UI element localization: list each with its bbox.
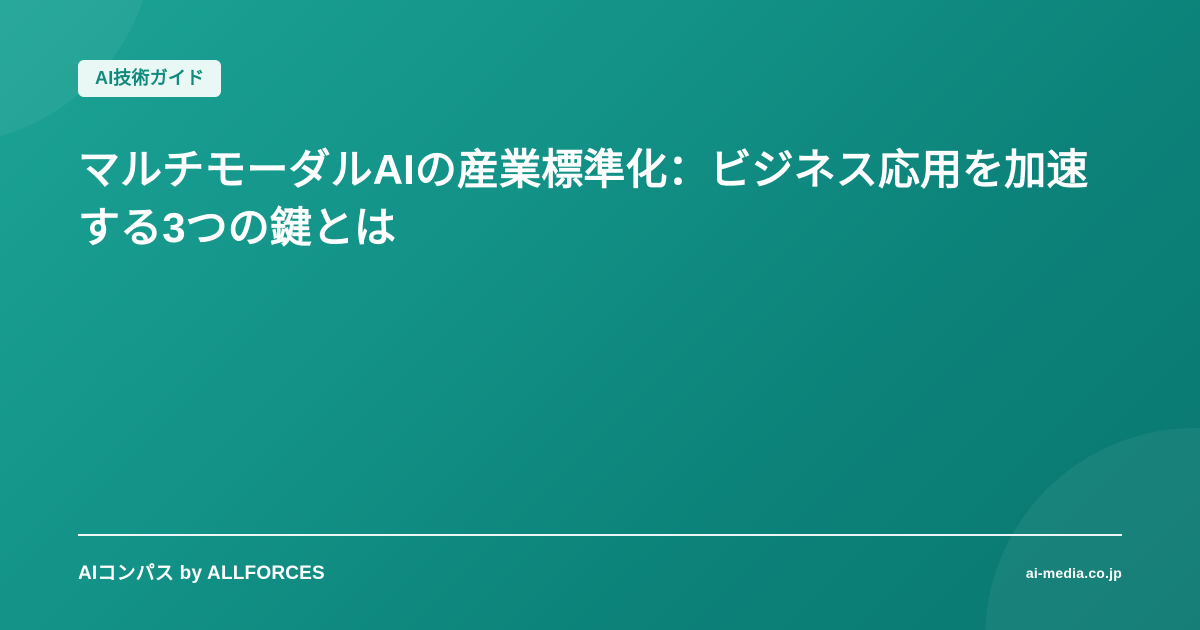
og-image-card: AI技術ガイド マルチモーダルAIの産業標準化：ビジネス応用を加速する3つの鍵と… — [0, 0, 1200, 630]
footer: AIコンパス by ALLFORCES ai-media.co.jp — [78, 558, 1122, 588]
category-badge: AI技術ガイド — [78, 60, 221, 97]
page-title: マルチモーダルAIの産業標準化：ビジネス応用を加速する3つの鍵とは — [78, 141, 1098, 257]
card-content: AI技術ガイド マルチモーダルAIの産業標準化：ビジネス応用を加速する3つの鍵と… — [78, 0, 1122, 630]
footer-divider — [78, 534, 1122, 536]
site-url: ai-media.co.jp — [1026, 566, 1122, 580]
brand-name: AIコンパス by ALLFORCES — [78, 564, 325, 583]
